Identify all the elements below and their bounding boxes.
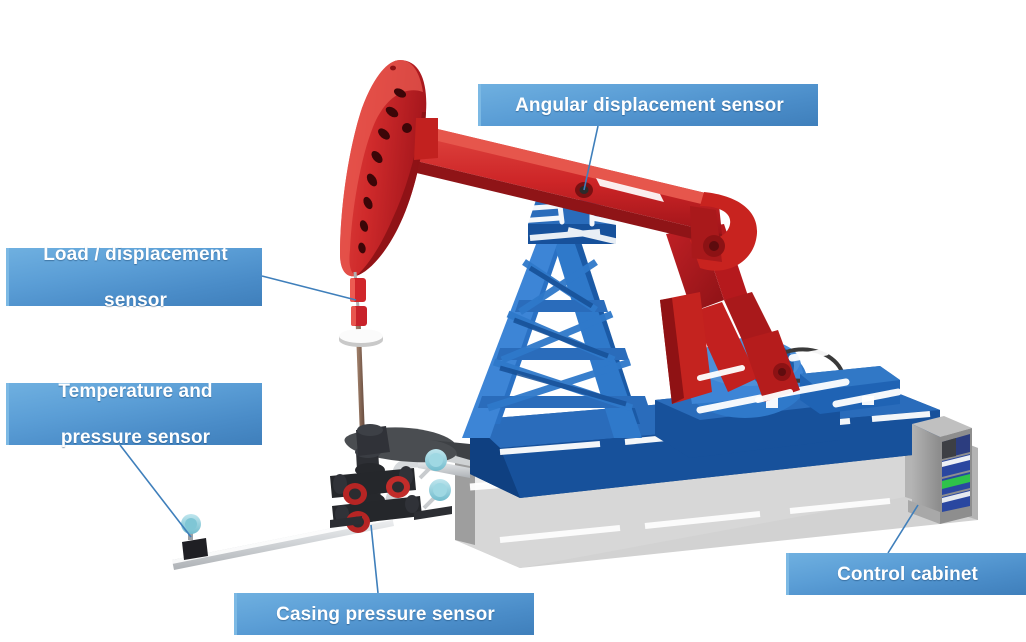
control-cabinet-body (908, 416, 972, 524)
callout-line-2: pressure sensor (21, 426, 250, 449)
callout-label-text: Angular displacement sensor (493, 94, 806, 117)
samson-post (462, 200, 649, 438)
callout-label-text: Load / displacement sensor (21, 243, 250, 312)
leader-load (262, 276, 356, 300)
diagram-canvas: Angular displacement sensor Load / displ… (0, 0, 1026, 642)
callout-control-cabinet[interactable]: Control cabinet (786, 553, 1026, 595)
callout-casing-pressure-sensor[interactable]: Casing pressure sensor (234, 593, 534, 635)
flowline (172, 427, 470, 570)
callout-label-text: Temperature and pressure sensor (21, 380, 250, 449)
leader-temp (120, 445, 191, 537)
callout-load-displacement-sensor[interactable]: Load / displacement sensor (6, 248, 262, 306)
callout-angular-displacement-sensor[interactable]: Angular displacement sensor (478, 84, 818, 126)
callout-temperature-and-pressure-sensor[interactable]: Temperature and pressure sensor (6, 383, 262, 445)
callout-label-text: Control cabinet (801, 563, 1014, 586)
callout-label-text: Casing pressure sensor (249, 603, 522, 626)
rod-clamp (350, 278, 367, 326)
temp-pressure-probe (181, 514, 208, 560)
leader-casing (371, 525, 378, 593)
callout-line-2: sensor (21, 289, 250, 312)
callout-line-1: Load / displacement (21, 243, 250, 266)
callout-line-1: Temperature and (21, 380, 250, 403)
